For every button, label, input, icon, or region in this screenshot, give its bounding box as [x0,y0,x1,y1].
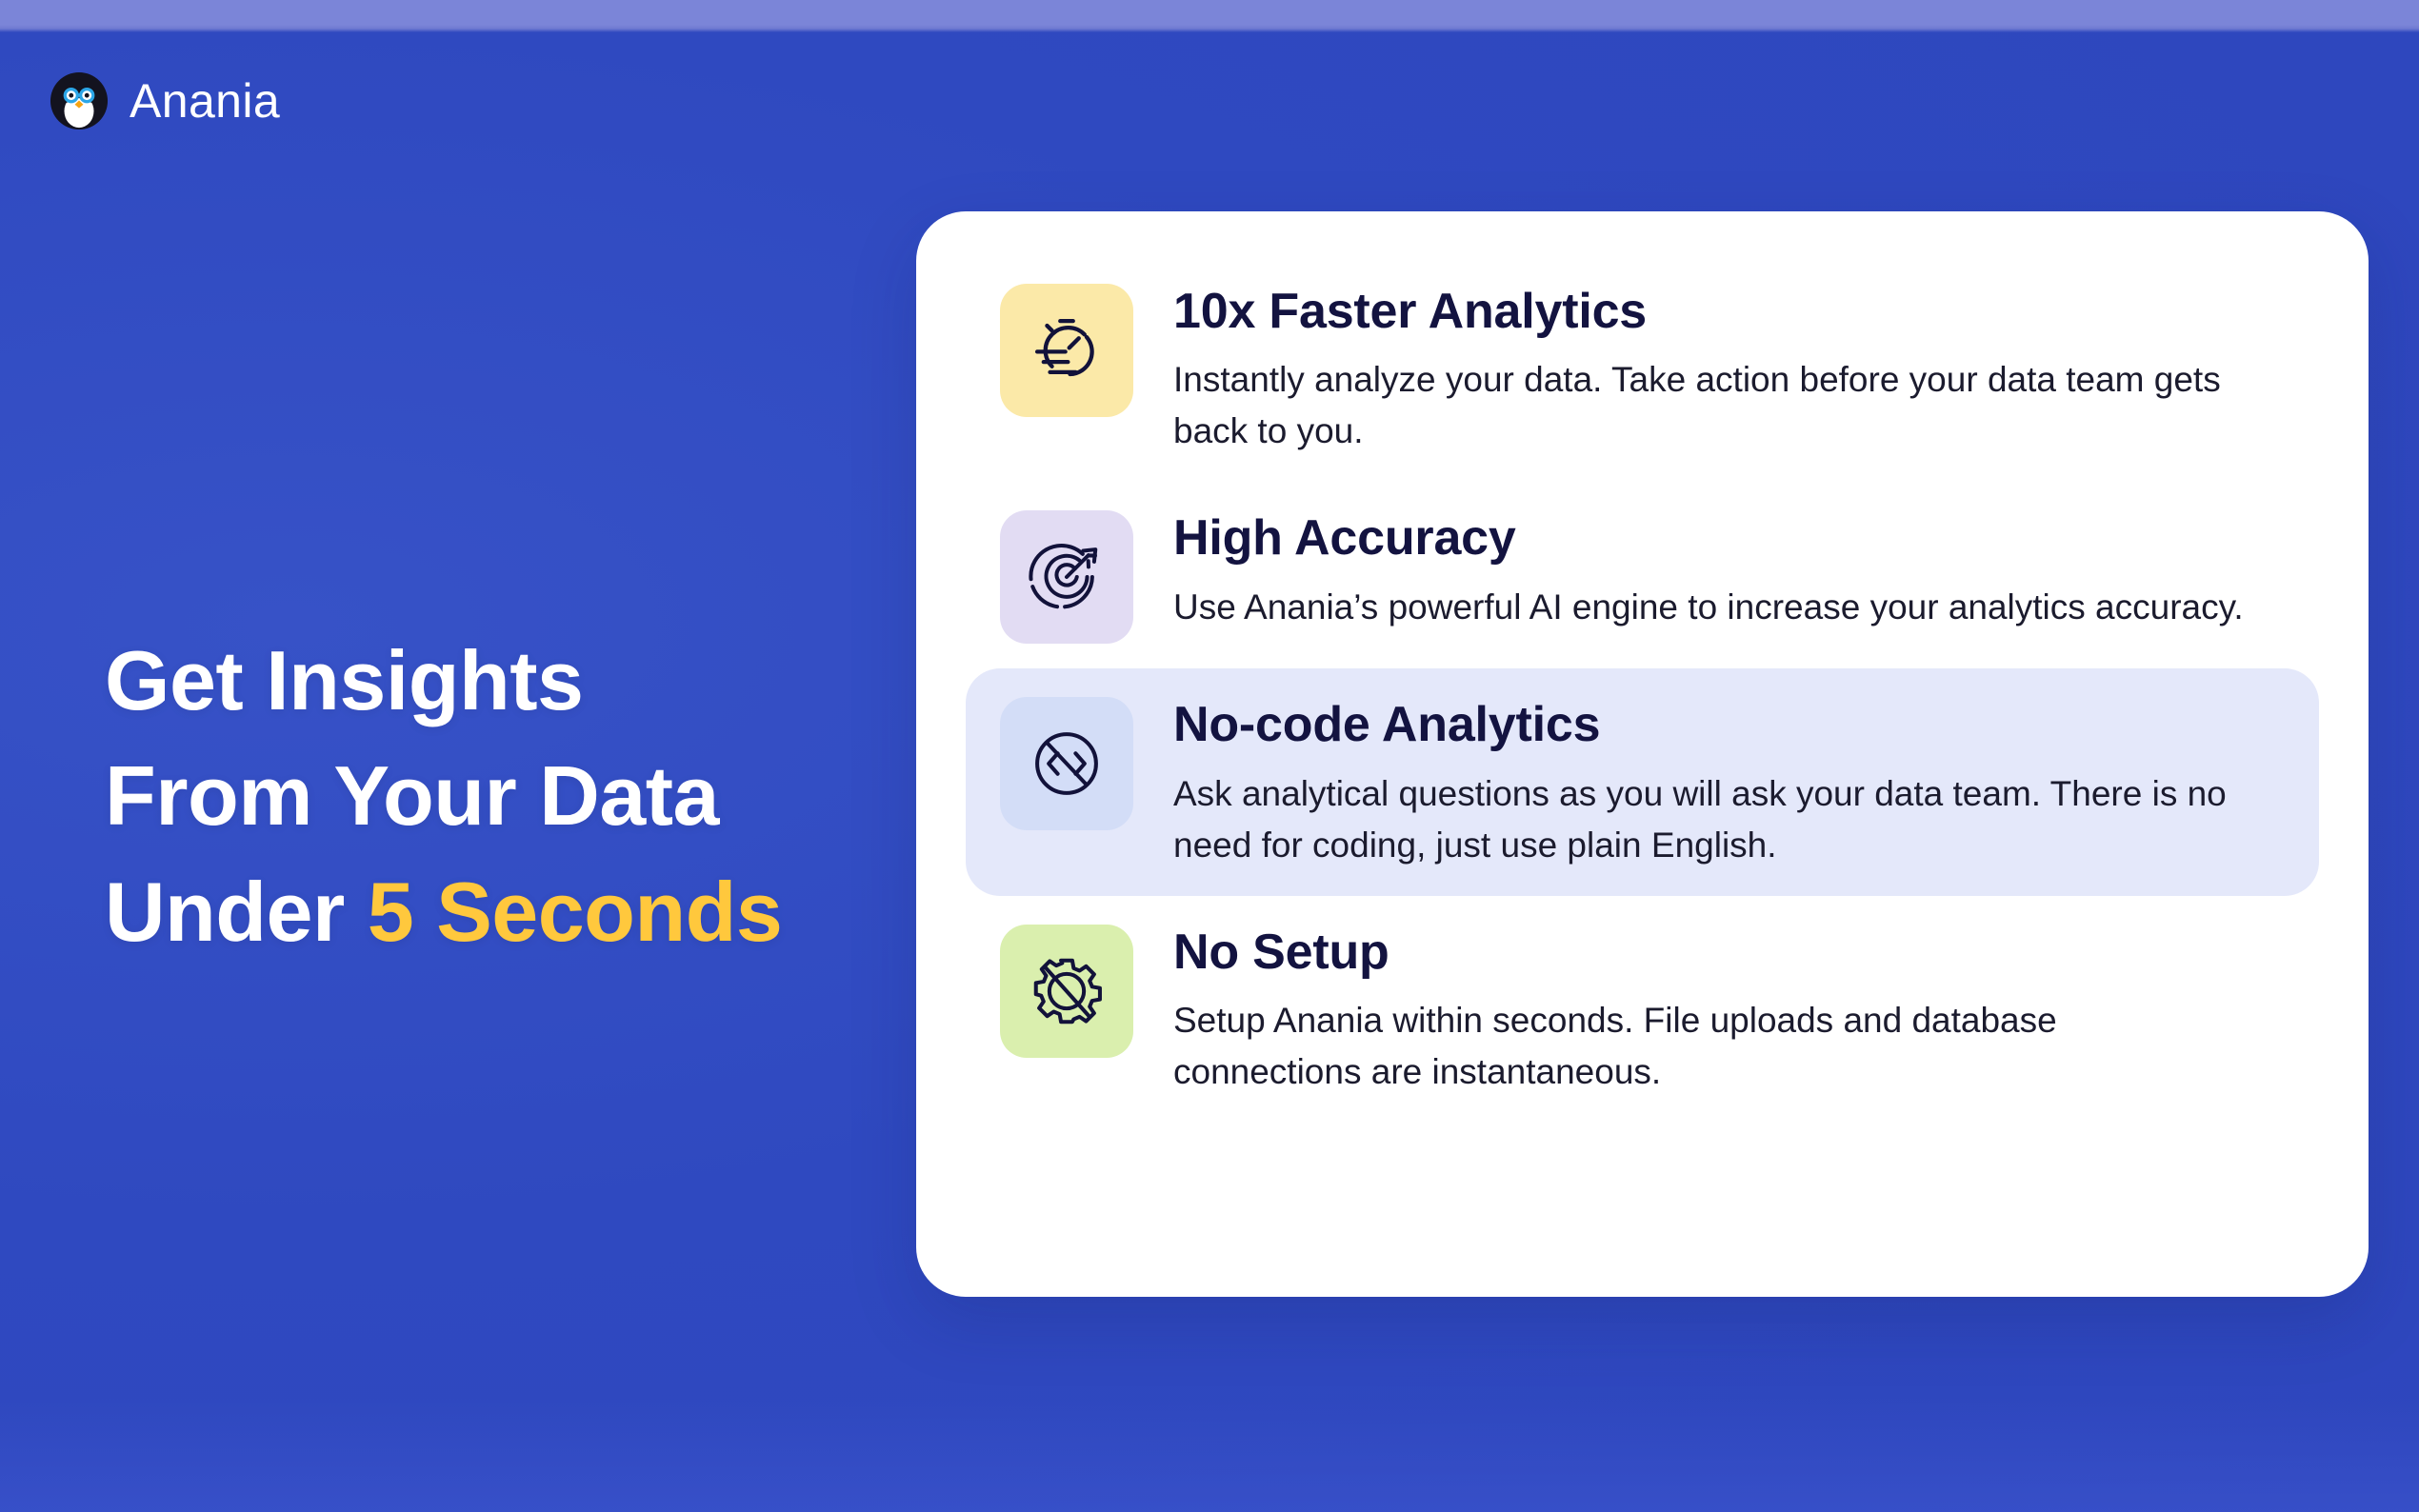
no-code-brackets-icon [1000,697,1133,830]
feature-text-block: 10x Faster Analytics Instantly analyze y… [1173,280,2249,457]
feature-description: Use Anania’s powerful AI engine to incre… [1173,582,2244,633]
feature-description: Ask analytical questions as you will ask… [1173,768,2249,871]
feature-title: No Setup [1173,925,2249,980]
headline-line-1: Get Insights [105,623,782,738]
brand-name: Anania [130,77,280,125]
feature-item-no-setup[interactable]: No Setup Setup Anania within seconds. Fi… [966,896,2319,1123]
hero-slide: Anania Get Insights From Your Data Under… [0,0,2419,1512]
feature-text-block: No Setup Setup Anania within seconds. Fi… [1173,921,2249,1098]
feature-text-block: High Accuracy Use Anania’s powerful AI e… [1173,507,2244,632]
feature-title: 10x Faster Analytics [1173,284,2249,339]
stopwatch-speed-icon [1000,284,1133,417]
penguin-with-glasses-logo-icon [50,71,109,130]
feature-title: High Accuracy [1173,510,2244,566]
feature-description: Setup Anania within seconds. File upload… [1173,995,2249,1098]
feature-text-block: No-code Analytics Ask analytical questio… [1173,693,2249,870]
headline-line-3-prefix: Under [105,865,368,959]
brand-logo-group[interactable]: Anania [50,71,280,130]
feature-title: No-code Analytics [1173,697,2249,752]
feature-list: 10x Faster Analytics Instantly analyze y… [966,255,2319,1123]
page-title: Get Insights From Your Data Under 5 Seco… [105,623,782,969]
feature-description: Instantly analyze your data. Take action… [1173,354,2249,457]
headline-line-3: Under 5 Seconds [105,854,782,969]
feature-item-faster-analytics[interactable]: 10x Faster Analytics Instantly analyze y… [966,255,2319,482]
gear-disabled-icon [1000,925,1133,1058]
headline-accent-text: 5 Seconds [368,865,783,959]
feature-item-high-accuracy[interactable]: High Accuracy Use Anania’s powerful AI e… [966,482,2319,668]
feature-item-no-code-analytics[interactable]: No-code Analytics Ask analytical questio… [966,668,2319,895]
feature-card: 10x Faster Analytics Instantly analyze y… [916,211,2369,1297]
target-arrow-icon [1000,510,1133,644]
headline-line-2: From Your Data [105,738,782,853]
